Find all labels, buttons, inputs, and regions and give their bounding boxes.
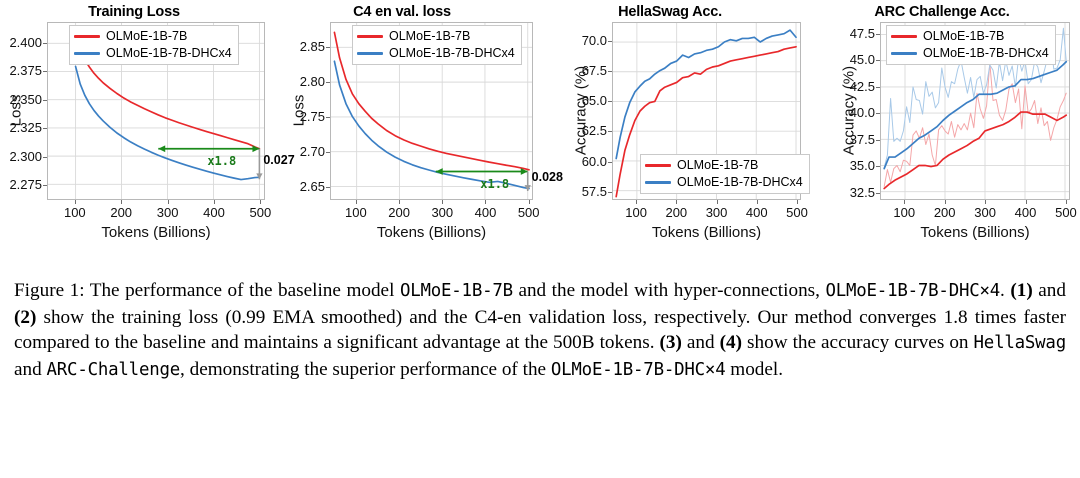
x-axis-tick-mark [945, 200, 946, 204]
x-axis-tick-label: 300 [148, 206, 188, 219]
figure-page: Training Lossx1.80.0272.2752.3002.3252.3… [0, 0, 1080, 478]
y-axis-label: Loss [291, 22, 308, 200]
chart-legend: OLMoE-1B-7BOLMoE-1B-7B-DHCx4 [69, 25, 239, 65]
legend-color-swatch [357, 52, 383, 55]
caption-segment: (1) [1010, 280, 1032, 301]
x-axis-tick-label: 200 [379, 206, 419, 219]
x-axis-label: Tokens (Billions) [880, 224, 1070, 241]
caption-segment: OLMoE-1B-7B-DHC×4 [825, 281, 1000, 301]
x-axis-tick-label: 200 [925, 206, 965, 219]
chart-legend: OLMoE-1B-7BOLMoE-1B-7B-DHCx4 [640, 154, 810, 194]
x-axis-tick-label: 100 [336, 206, 376, 219]
x-axis-tick-mark [1066, 200, 1067, 204]
x-axis-tick-mark [529, 200, 530, 204]
x-axis-tick-mark [797, 200, 798, 204]
speedup-annotation: x1.8 [207, 154, 236, 168]
x-axis-tick-mark [168, 200, 169, 204]
legend-label: OLMoE-1B-7B [389, 30, 470, 43]
chart-title: ARC Challenge Acc. [804, 4, 1080, 20]
series-line [334, 61, 529, 188]
caption-segment: ARC-Challenge [47, 360, 181, 380]
y-axis-label: Loss [8, 22, 25, 200]
caption-segment: OLMoE-1B-7B [400, 281, 513, 301]
legend-color-swatch [357, 35, 383, 38]
x-axis-tick-label: 200 [656, 206, 696, 219]
y-axis-tick-mark [326, 187, 330, 188]
y-axis-tick-mark [43, 43, 47, 44]
caption-segment: (2) [14, 307, 36, 328]
y-axis-tick-mark [326, 82, 330, 83]
legend-entry: OLMoE-1B-7B-DHCx4 [74, 46, 232, 61]
x-axis-tick-mark [442, 200, 443, 204]
legend-entry: OLMoE-1B-7B-DHCx4 [357, 46, 515, 61]
x-axis-tick-mark [717, 200, 718, 204]
x-axis-tick-label: 400 [1006, 206, 1046, 219]
legend-color-swatch [645, 181, 671, 184]
caption-segment: and [1033, 280, 1066, 301]
y-axis-label: Accuracy (%) [841, 22, 858, 200]
y-axis-tick-mark [876, 113, 880, 114]
y-axis-tick-mark [876, 140, 880, 141]
legend-label: OLMoE-1B-7B-DHCx4 [106, 47, 232, 60]
legend-entry: OLMoE-1B-7B-DHCx4 [891, 46, 1049, 61]
y-axis-tick-mark [608, 71, 612, 72]
y-axis-tick-mark [608, 41, 612, 42]
x-axis-tick-label: 300 [422, 206, 462, 219]
x-axis-tick-mark [904, 200, 905, 204]
legend-entry: OLMoE-1B-7B [645, 158, 803, 173]
chart-title: C4 en val. loss [268, 4, 536, 20]
y-axis-tick-mark [876, 193, 880, 194]
x-axis-label: Tokens (Billions) [47, 224, 265, 241]
x-axis-label: Tokens (Billions) [330, 224, 533, 241]
x-axis-tick-mark [676, 200, 677, 204]
caption-segment: show the accuracy curves on [742, 332, 974, 353]
x-axis-tick-mark [214, 200, 215, 204]
legend-label: OLMoE-1B-7B [923, 30, 1004, 43]
y-axis-tick-mark [43, 185, 47, 186]
chart-title: HellaSwag Acc. [536, 4, 804, 20]
caption-segment: (4) [720, 332, 742, 353]
legend-entry: OLMoE-1B-7B [74, 29, 232, 44]
y-axis-label: Accuracy (%) [573, 22, 590, 200]
series-line [884, 63, 1066, 187]
x-axis-tick-mark [636, 200, 637, 204]
caption-segment: , demonstrating the superior performance… [180, 359, 551, 380]
x-axis-tick-label: 500 [1046, 206, 1080, 219]
chart-legend: OLMoE-1B-7BOLMoE-1B-7B-DHCx4 [352, 25, 522, 65]
caption-segment: model. [725, 359, 783, 380]
legend-color-swatch [891, 52, 917, 55]
figure-caption: Figure 1: The performance of the baselin… [14, 278, 1066, 383]
figure-panels: Training Lossx1.80.0272.2752.3002.3252.3… [0, 0, 1080, 248]
caption-segment: . [1000, 280, 1010, 301]
speedup-annotation: x1.8 [480, 177, 509, 191]
x-axis-tick-label: 300 [697, 206, 737, 219]
x-axis-tick-mark [356, 200, 357, 204]
x-axis-tick-label: 200 [101, 206, 141, 219]
legend-entry: OLMoE-1B-7B-DHCx4 [645, 175, 803, 190]
y-axis-tick-mark [43, 157, 47, 158]
legend-label: OLMoE-1B-7B-DHCx4 [389, 47, 515, 60]
x-axis-tick-mark [757, 200, 758, 204]
chart-title: Training Loss [0, 4, 268, 20]
series-line [616, 30, 796, 158]
caption-segment: OLMoE-1B-7B-DHC×4 [551, 360, 726, 380]
y-axis-tick-mark [326, 117, 330, 118]
y-axis-tick-mark [43, 128, 47, 129]
x-axis-tick-label: 400 [737, 206, 777, 219]
caption-segment: (3) [660, 332, 682, 353]
legend-color-swatch [891, 35, 917, 38]
x-axis-tick-label: 400 [465, 206, 505, 219]
y-axis-tick-mark [876, 166, 880, 167]
y-axis-tick-mark [608, 101, 612, 102]
y-axis-tick-mark [876, 87, 880, 88]
y-axis-tick-mark [608, 192, 612, 193]
legend-color-swatch [74, 52, 100, 55]
x-axis-tick-mark [260, 200, 261, 204]
chart-panel-1: Training Lossx1.80.0272.2752.3002.3252.3… [0, 0, 268, 248]
y-axis-tick-mark [326, 47, 330, 48]
y-axis-tick-mark [876, 34, 880, 35]
x-axis-tick-mark [985, 200, 986, 204]
x-axis-tick-label: 100 [55, 206, 95, 219]
chart-panel-3: HellaSwag Acc.57.560.062.565.067.570.010… [536, 0, 804, 248]
x-axis-tick-label: 300 [965, 206, 1005, 219]
y-axis-tick-mark [43, 100, 47, 101]
chart-panel-2: C4 en val. lossx1.80.0282.652.702.752.80… [268, 0, 536, 248]
caption-segment: Figure 1: The performance of the baselin… [14, 280, 400, 301]
caption-segment: and [14, 359, 47, 380]
y-axis-tick-mark [608, 162, 612, 163]
legend-label: OLMoE-1B-7B [106, 30, 187, 43]
legend-label: OLMoE-1B-7B-DHCx4 [923, 47, 1049, 60]
y-axis-tick-mark [876, 60, 880, 61]
legend-entry: OLMoE-1B-7B [891, 29, 1049, 44]
x-axis-tick-label: 100 [616, 206, 656, 219]
x-axis-tick-label: 400 [194, 206, 234, 219]
legend-entry: OLMoE-1B-7B [357, 29, 515, 44]
x-axis-tick-mark [399, 200, 400, 204]
legend-label: OLMoE-1B-7B-DHCx4 [677, 176, 803, 189]
legend-color-swatch [645, 164, 671, 167]
x-axis-label: Tokens (Billions) [612, 224, 801, 241]
legend-label: OLMoE-1B-7B [677, 159, 758, 172]
chart-panel-4: ARC Challenge Acc.32.535.037.540.042.545… [804, 0, 1080, 248]
x-axis-tick-mark [1026, 200, 1027, 204]
y-axis-tick-mark [608, 131, 612, 132]
caption-segment: and [682, 332, 720, 353]
y-axis-tick-mark [326, 152, 330, 153]
chart-legend: OLMoE-1B-7BOLMoE-1B-7B-DHCx4 [886, 25, 1056, 65]
caption-segment: HellaSwag [974, 333, 1066, 353]
legend-color-swatch [74, 35, 100, 38]
x-axis-tick-mark [121, 200, 122, 204]
x-axis-tick-label: 100 [884, 206, 924, 219]
y-axis-tick-mark [43, 71, 47, 72]
x-axis-tick-mark [485, 200, 486, 204]
caption-segment: and the model with hyper-connections, [513, 280, 826, 301]
x-axis-tick-mark [75, 200, 76, 204]
